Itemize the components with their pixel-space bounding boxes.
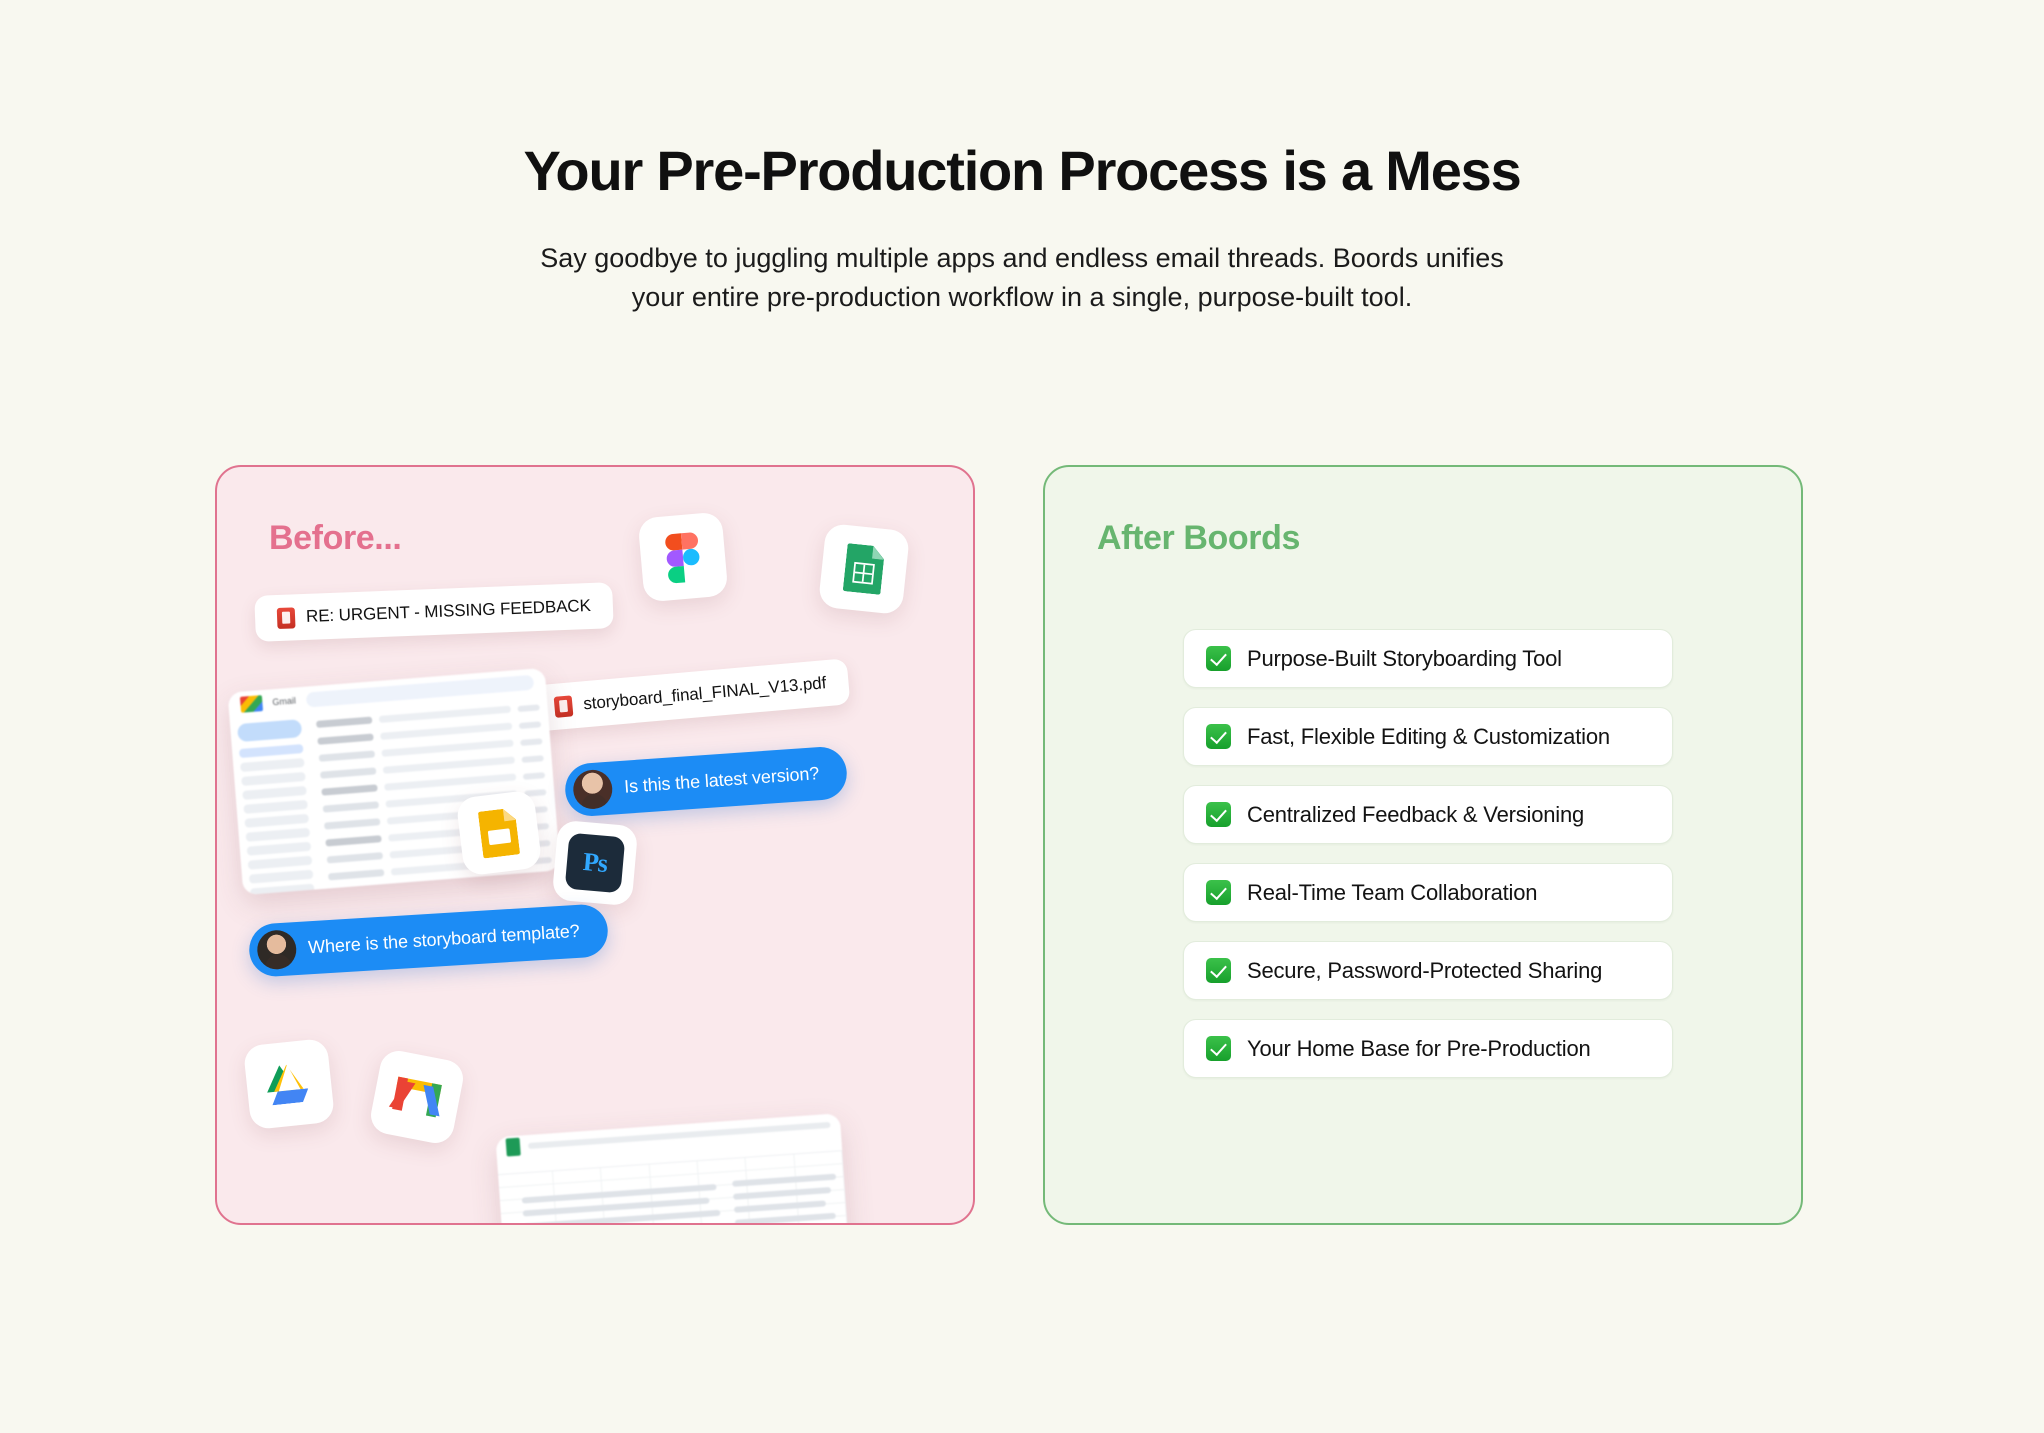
gmail-icon [240,695,263,713]
gmail-sidebar-item[interactable] [240,758,305,772]
avatar [256,929,297,970]
gmail-glyph [392,1077,442,1118]
slides-glyph [478,807,520,858]
check-mark-icon [1206,958,1231,983]
pdf-attachment-icon [277,607,296,629]
checklist-item-label: Real-Time Team Collaboration [1247,880,1537,906]
page-root: Your Pre-Production Process is a Mess Sa… [0,0,2044,1433]
photoshop-icon: Ps [552,820,639,907]
after-panel: After Boords Purpose-Built Storyboarding… [1043,465,1803,1225]
email-subject-chip[interactable]: RE: URGENT - MISSING FEEDBACK [254,582,613,642]
checklist-item-label: Centralized Feedback & Versioning [1247,802,1584,828]
check-mark-icon [1206,724,1231,749]
google-sheets-mockup[interactable] [495,1113,853,1225]
checklist-item-label: Secure, Password-Protected Sharing [1247,958,1602,984]
drive-glyph [265,1062,313,1105]
check-mark-icon [1206,1036,1231,1061]
gmail-mockup-label: Gmail [272,695,296,707]
figma-icon [637,511,728,602]
chat-bubble-storyboard-template[interactable]: Where is the storyboard template? [248,903,609,978]
page-header: Your Pre-Production Process is a Mess Sa… [0,140,2044,316]
photoshop-label: Ps [582,847,609,879]
page-title: Your Pre-Production Process is a Mess [0,140,2044,203]
gmail-sidebar-item[interactable] [249,870,314,884]
check-mark-icon [1206,802,1231,827]
gmail-sidebar-item[interactable] [247,842,312,856]
gmail-sidebar-item[interactable] [241,772,306,786]
before-panel: Before... RE: URGENT - MISSING FEEDBACK [215,465,975,1225]
checklist-item[interactable]: Purpose-Built Storyboarding Tool [1183,629,1673,688]
gmail-sidebar-item[interactable] [243,800,308,814]
gmail-sidebar-item[interactable] [250,884,315,896]
sheets-industry-column [732,1174,843,1225]
gmail-message-row[interactable] [330,887,554,895]
pdf-attachment-icon [554,695,574,717]
subtitle-line-2: your entire pre-production workflow in a… [0,278,2044,317]
chat-bubble-latest-version[interactable]: Is this the latest version? [563,745,848,818]
sheets-icon [506,1138,521,1157]
pdf-file-name: storyboard_final_FINAL_V13.pdf [583,673,827,714]
gmail-sidebar [230,713,322,896]
chat-bubble-text: Is this the latest version? [623,763,819,798]
checklist-item[interactable]: Fast, Flexible Editing & Customization [1183,707,1673,766]
check-mark-icon [1206,880,1231,905]
google-sheets-icon [818,523,910,615]
photoshop-glyph: Ps [565,833,626,894]
before-panel-title: Before... [269,519,401,558]
gmail-compose-button[interactable] [237,719,302,742]
checklist-item-label: Purpose-Built Storyboarding Tool [1247,646,1562,672]
checklist-item[interactable]: Secure, Password-Protected Sharing [1183,941,1673,1000]
figma-glyph [665,532,702,582]
check-mark-icon [1206,646,1231,671]
gmail-sidebar-item[interactable] [239,744,304,758]
checklist-item[interactable]: Centralized Feedback & Versioning [1183,785,1673,844]
gmail-sidebar-item[interactable] [246,828,311,842]
gmail-sidebar-item[interactable] [248,856,313,870]
pdf-file-chip[interactable]: storyboard_final_FINAL_V13.pdf [531,658,850,731]
after-panel-title: After Boords [1097,519,1300,558]
google-slides-icon [456,790,543,877]
email-subject-text: RE: URGENT - MISSING FEEDBACK [306,596,591,627]
checklist-item[interactable]: Real-Time Team Collaboration [1183,863,1673,922]
benefits-checklist: Purpose-Built Storyboarding Tool Fast, F… [1183,629,1673,1078]
avatar [572,769,614,811]
subtitle-line-1: Say goodbye to juggling multiple apps an… [0,239,2044,278]
page-subtitle: Say goodbye to juggling multiple apps an… [0,239,2044,317]
checklist-item-label: Fast, Flexible Editing & Customization [1247,724,1610,750]
sheets-glyph [843,543,886,595]
google-drive-icon [243,1038,335,1130]
checklist-item-label: Your Home Base for Pre-Production [1247,1036,1591,1062]
checklist-item[interactable]: Your Home Base for Pre-Production [1183,1019,1673,1078]
gmail-sidebar-item[interactable] [242,786,307,800]
gmail-icon [368,1048,466,1146]
chat-bubble-text: Where is the storyboard template? [308,921,581,959]
gmail-sidebar-item[interactable] [244,814,309,828]
comparison-panels: Before... RE: URGENT - MISSING FEEDBACK [215,465,1803,1225]
